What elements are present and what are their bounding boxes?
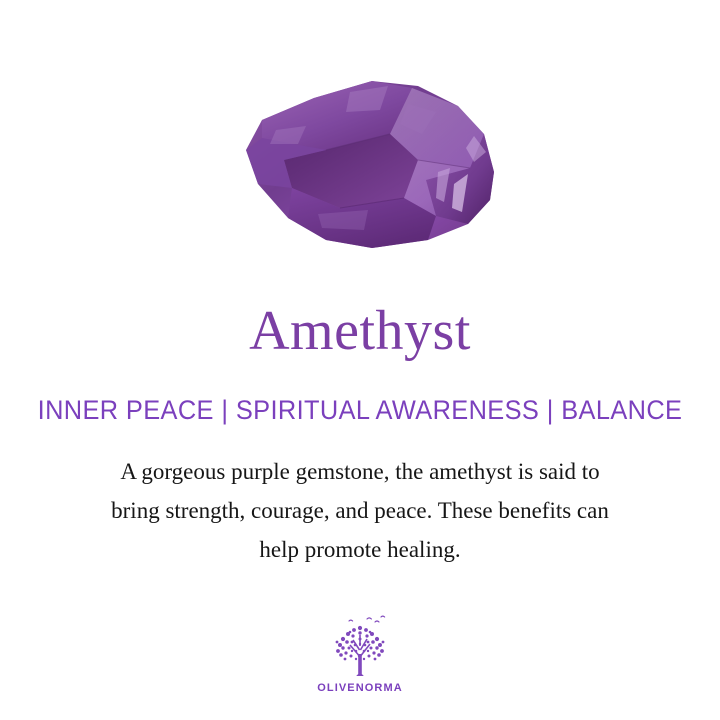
keyword-balance: BALANCE [561, 395, 682, 425]
amethyst-crystal-image [222, 76, 498, 268]
page-title: Amethyst [0, 300, 720, 362]
tree-birds [349, 616, 385, 622]
description-line: bring strength, courage, and peace. Thes… [40, 491, 680, 530]
keyword-separator-1: | [214, 393, 236, 427]
description-line: A gorgeous purple gemstone, the amethyst… [40, 452, 680, 491]
keyword-separator-2: | [539, 393, 561, 427]
amethyst-info-card: Amethyst INNER PEACE|SPIRITUAL AWARENESS… [0, 0, 720, 720]
keyword-inner-peace: INNER PEACE [38, 395, 214, 425]
gemstone-image-container [0, 72, 720, 272]
description-text: A gorgeous purple gemstone, the amethyst… [40, 452, 680, 569]
brand-logo: OLIVENORMA [0, 612, 720, 694]
tree-trunk [356, 654, 364, 676]
keyword-line: INNER PEACE|SPIRITUAL AWARENESS|BALANCE [22, 393, 699, 427]
brand-wordmark: OLIVENORMA [317, 682, 403, 694]
description-line: help promote healing. [40, 530, 680, 569]
keyword-spiritual-awareness: SPIRITUAL AWARENESS [236, 395, 539, 425]
olive-tree-icon [323, 612, 397, 680]
